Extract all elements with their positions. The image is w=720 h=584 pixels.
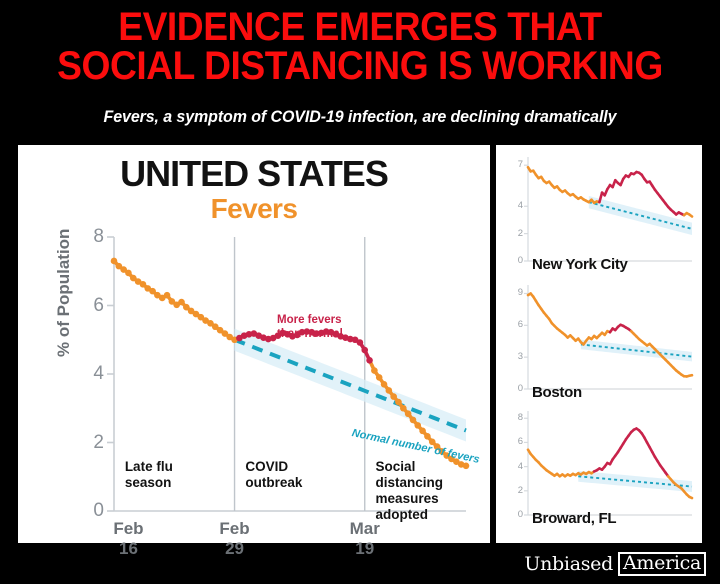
mini-y-tick-label: 2 (506, 228, 528, 239)
y-tick-label: 6 (80, 295, 114, 317)
mini-plot-area: 7420 (528, 157, 692, 261)
headline-line-2: SOCIAL DISTANCING IS WORKING (25, 47, 695, 86)
y-tick-label: 2 (80, 432, 114, 454)
mini-chart-boston: 9630 Boston (502, 281, 698, 407)
y-axis-label-us: % of Population (54, 229, 74, 357)
city-charts-panel: 7420 New York City 9630 Boston 86420 Bro… (496, 145, 702, 543)
data-point (361, 347, 368, 354)
x-tick-label: Feb29 (200, 519, 270, 558)
mini-chart-title: New York City (532, 256, 628, 273)
subheadline: Fevers, a symptom of COVID-19 infection,… (11, 108, 709, 127)
normal-range-band (578, 471, 692, 492)
x-tick-label: Mar19 (330, 519, 400, 558)
phase-label-social-distancing: Social distancing measures adopted (376, 459, 466, 523)
mini-chart-svg (528, 157, 692, 261)
y-tick-label: 8 (80, 226, 114, 248)
mini-chart-new-york-city: 7420 New York City (502, 153, 698, 279)
infographic-poster: EVIDENCE EMERGES THAT SOCIAL DISTANCING … (0, 0, 720, 584)
mini-y-tick-label: 9 (506, 287, 528, 298)
data-point (424, 433, 431, 440)
phase-label-late-flu-season: Late flu season (125, 459, 173, 491)
data-point (400, 405, 407, 412)
mini-y-tick-label: 6 (506, 436, 528, 447)
data-point (366, 357, 373, 364)
data-point (357, 339, 364, 346)
mini-chart-broward-fl: 86420 Broward, FL (502, 407, 698, 533)
data-point (111, 258, 118, 265)
mini-chart-title: Broward, FL (532, 510, 616, 527)
mini-chart-title: Boston (532, 384, 582, 401)
data-point (414, 422, 421, 429)
headline-line-1: EVIDENCE EMERGES THAT (118, 5, 602, 49)
mini-y-tick-label: 2 (506, 485, 528, 496)
mini-plot-area: 86420 (528, 411, 692, 515)
data-point (376, 374, 383, 381)
mini-chart-svg (528, 285, 692, 389)
data-point (381, 381, 388, 388)
mini-chart-svg (528, 411, 692, 515)
mini-y-tick-label: 3 (506, 351, 528, 362)
mini-y-tick-label: 0 (506, 383, 528, 394)
mini-y-tick-label: 0 (506, 509, 528, 520)
mini-y-tick-label: 8 (506, 412, 528, 423)
data-point (405, 410, 412, 417)
data-point (395, 399, 402, 406)
x-tick-label: Feb16 (93, 519, 163, 558)
phase-label-covid-outbreak: COVID outbreak (245, 459, 302, 491)
mini-y-tick-label: 0 (506, 255, 528, 266)
annotation-more-fevers: More fevers than normal (277, 313, 343, 342)
brand-word-america: America (618, 552, 706, 576)
chart-title-us: UNITED STATES (18, 153, 490, 195)
mini-y-tick-label: 6 (506, 319, 528, 330)
data-point (178, 299, 185, 306)
mini-plot-area: 9630 (528, 285, 692, 389)
data-point (164, 292, 171, 299)
headline: EVIDENCE EMERGES THAT SOCIAL DISTANCING … (25, 8, 695, 86)
y-tick-label: 4 (80, 363, 114, 385)
data-point (390, 393, 397, 400)
mini-y-tick-label: 4 (506, 461, 528, 472)
data-point (410, 417, 417, 424)
brand-logo: Unbiased America (524, 552, 706, 576)
united-states-chart-panel: UNITED STATES Fevers % of Population 864… (18, 145, 490, 543)
mini-y-tick-label: 4 (506, 200, 528, 211)
data-point (125, 270, 132, 277)
brand-word-unbiased: Unbiased (524, 553, 613, 575)
chart-subtitle-us: Fevers (18, 193, 490, 225)
us-plot-area: % of Population 86420Feb16Feb29Mar19Late… (114, 237, 466, 511)
data-point (371, 367, 378, 374)
mini-y-tick-label: 7 (506, 159, 528, 170)
data-point (419, 428, 426, 435)
data-point (386, 387, 393, 394)
